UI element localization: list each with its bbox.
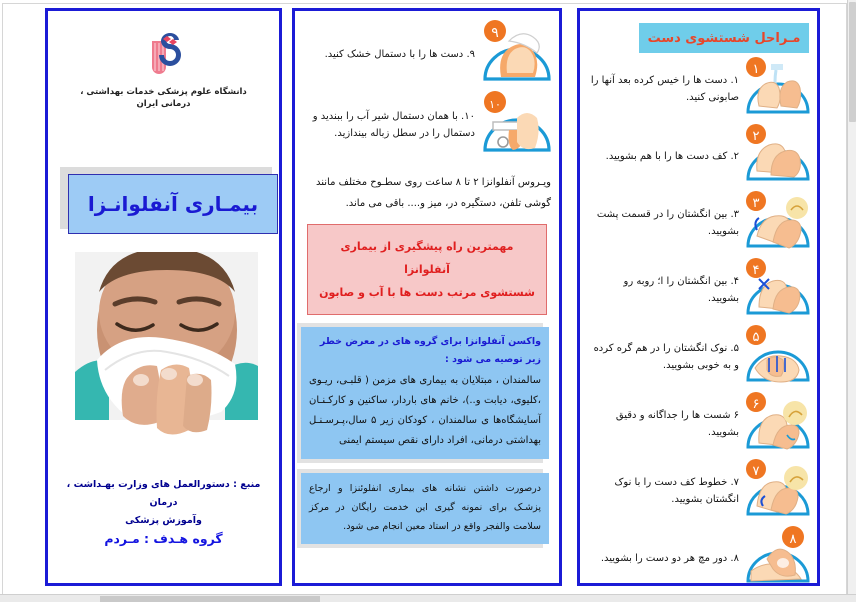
vaccine-info-block: واکسن آنفلوانزا برای گروه های در معرض خط… (301, 327, 549, 459)
svg-text:۷: ۷ (753, 464, 760, 479)
wash-step-3-text: ۳. بین انگشتان را در قسمت پشت بشویید. (584, 206, 739, 240)
wash-thumbs-icon: ۶ (743, 391, 813, 457)
source-line1: منبع : دستورالعمل های وزارت بهـداشت ، در… (58, 476, 269, 512)
vaccine-info-body: سالمندان ، مبتلایان به بیماری های مزمن (… (309, 371, 541, 451)
referral-info-box: درصورت داشتن نشانه های بیماری انفلوئنزا … (301, 473, 549, 544)
university-name-line1: دانشگاه علوم پزشکی خدمات بهداشتی ، (58, 86, 269, 98)
rub-palms-together-icon: ۲ (743, 123, 813, 189)
virus-survival-line1: ویـروس آنفلوانزا ۲ تا ۸ ساعت روی سطـوح م… (303, 172, 551, 193)
prevention-alert-box: مهمترین راه پیشگیری از بیماری آنفلوانزا … (307, 224, 547, 315)
svg-text:۱: ۱ (753, 62, 760, 77)
svg-text:۲: ۲ (753, 129, 760, 144)
wash-step-2: ۲ ۲. کف دست ها را با هم بشویید. (580, 122, 817, 189)
wash-step-5: ۵ ۵. نوک انگشتان را در هم گره کرده و به … (580, 323, 817, 390)
panel-right-handwashing: مـراحل شستشوی دست ۱ ۱. دست ها را خیس کرد… (577, 8, 820, 586)
svg-text:۸: ۸ (790, 532, 797, 547)
university-name-line2: درمانی ایران (58, 98, 269, 110)
wash-step-9-text: ۹. دست ها را با دستمال خشک کنید. (299, 46, 475, 63)
wash-step-7-text: ۷. خطوط کف دست را با نوک انگشتان بشویید. (584, 474, 739, 508)
iums-logo-icon (140, 27, 188, 79)
wash-step-6: ۶ ۶ شست ها را جداگانه و دقیق بشویید. (580, 390, 817, 457)
wash-between-fingers-back-icon: ۳ (743, 190, 813, 256)
panel-left-cover: دانشگاه علوم پزشکی خدمات بهداشتی ، درمان… (45, 8, 282, 586)
horizontal-scrollbar[interactable] (0, 594, 856, 602)
wash-step-3: ۳ ۳. بین انگشتان را در قسمت پشت بشویید. (580, 189, 817, 256)
wash-step-4-text: ۴. بین انگشتان را ا؛ روبه رو بشویید. (584, 273, 739, 307)
wash-wrists-icon: ۸ (743, 525, 813, 586)
svg-text:۵: ۵ (753, 330, 760, 345)
svg-text:۶: ۶ (753, 397, 760, 412)
horizontal-scrollbar-thumb[interactable] (100, 596, 320, 602)
vaccine-info-box: واکسن آنفلوانزا برای گروه های در معرض خط… (301, 327, 549, 459)
svg-text:۹: ۹ (491, 25, 499, 41)
svg-text:۱۰: ۱۰ (489, 98, 501, 111)
wash-step-9: ۹ ۹. دست ها را با دستمال خشک کنید. (295, 11, 559, 89)
wash-step-2-text: ۲. کف دست ها را با هم بشویید. (584, 148, 739, 165)
university-name: دانشگاه علوم پزشکی خدمات بهداشتی ، درمان… (58, 86, 269, 111)
source-text: منبع : دستورالعمل های وزارت بهـداشت ، در… (58, 476, 269, 530)
vertical-scrollbar[interactable] (847, 0, 856, 594)
wash-step-8-text: ۸. دور مچ هر دو دست را بشویید. (584, 550, 739, 567)
sneezing-woman-photo-svg (75, 252, 258, 437)
vaccine-info-heading: واکسن آنفلوانزا برای گروه های در معرض خط… (309, 333, 541, 369)
wash-step-5-text: ۵. نوک انگشتان را در هم گره کرده و به خو… (584, 340, 739, 374)
wet-hands-under-tap-icon: ۱ (743, 56, 813, 122)
close-tap-with-towel-icon: ۱۰ (479, 90, 555, 160)
wash-palm-lines-icon: ۷ (743, 458, 813, 524)
target-group-text: گروه هـدف : مـردم (58, 531, 269, 546)
virus-survival-line2: گوشی تلفن، دستگیره در، میز و.... باقی می… (303, 193, 551, 214)
wash-step-10: ۱۰ ۱۰. با همان دستمال شیر آب را ببندید و… (295, 89, 559, 160)
brochure-title: بیمـاری آنفلوانـزا (88, 192, 258, 216)
wash-step-6-text: ۶ شست ها را جداگانه و دقیق بشویید. (584, 407, 739, 441)
wash-header-banner: مـراحل شستشوی دست (639, 23, 809, 53)
virus-survival-paragraph: ویـروس آنفلوانزا ۲ تا ۸ ساعت روی سطـوح م… (303, 172, 551, 214)
wash-header-wrap: مـراحل شستشوی دست (586, 17, 811, 61)
wash-step-10-text: ۱۰. با همان دستمال شیر آب را ببندید و دس… (299, 108, 475, 142)
wash-header-title: مـراحل شستشوی دست (648, 31, 801, 46)
sneezing-woman-photo (75, 252, 258, 437)
wash-step-1-text: ۱. دست ها را خیس کرده بعد آنها را صابونی… (584, 72, 739, 106)
interlocked-fingers-icon: ۵ (743, 324, 813, 390)
wash-step-4: ۴ ۴. بین انگشتان را ا؛ روبه رو بشویید. (580, 256, 817, 323)
wash-step-8: ۸ ۸. دور مچ هر دو دست را بشویید. (580, 524, 817, 586)
brochure-title-banner: بیمـاری آنفلوانـزا (68, 174, 278, 234)
svg-text:۳: ۳ (753, 196, 760, 211)
source-line2: وآموزش پزشکی (58, 512, 269, 530)
svg-text:۴: ۴ (753, 263, 760, 278)
panel-middle: ۹ ۹. دست ها را با دستمال خشک کنید. ۱۰ ۱۰… (292, 8, 562, 586)
dry-hands-with-towel-icon: ۹ (479, 19, 555, 89)
logo-block (48, 11, 279, 83)
vertical-scrollbar-thumb[interactable] (849, 2, 856, 122)
wash-step-1: ۱ ۱. دست ها را خیس کرده بعد آنها را صابو… (580, 55, 817, 122)
prevention-alert-line2: شستشوی مرتب دست ها با آب و صابون (316, 281, 538, 304)
prevention-alert-line1: مهمترین راه پیشگیری از بیماری آنفلوانزا (316, 235, 538, 281)
referral-info-block: درصورت داشتن نشانه های بیماری انفلوئنزا … (301, 473, 549, 544)
wash-step-7: ۷ ۷. خطوط کف دست را با نوک انگشتان بشویی… (580, 457, 817, 524)
document-canvas: دانشگاه علوم پزشکی خدمات بهداشتی ، درمان… (0, 0, 856, 602)
referral-info-body: درصورت داشتن نشانه های بیماری انفلوئنزا … (309, 479, 541, 536)
interlace-fingers-icon: ۴ (743, 257, 813, 323)
